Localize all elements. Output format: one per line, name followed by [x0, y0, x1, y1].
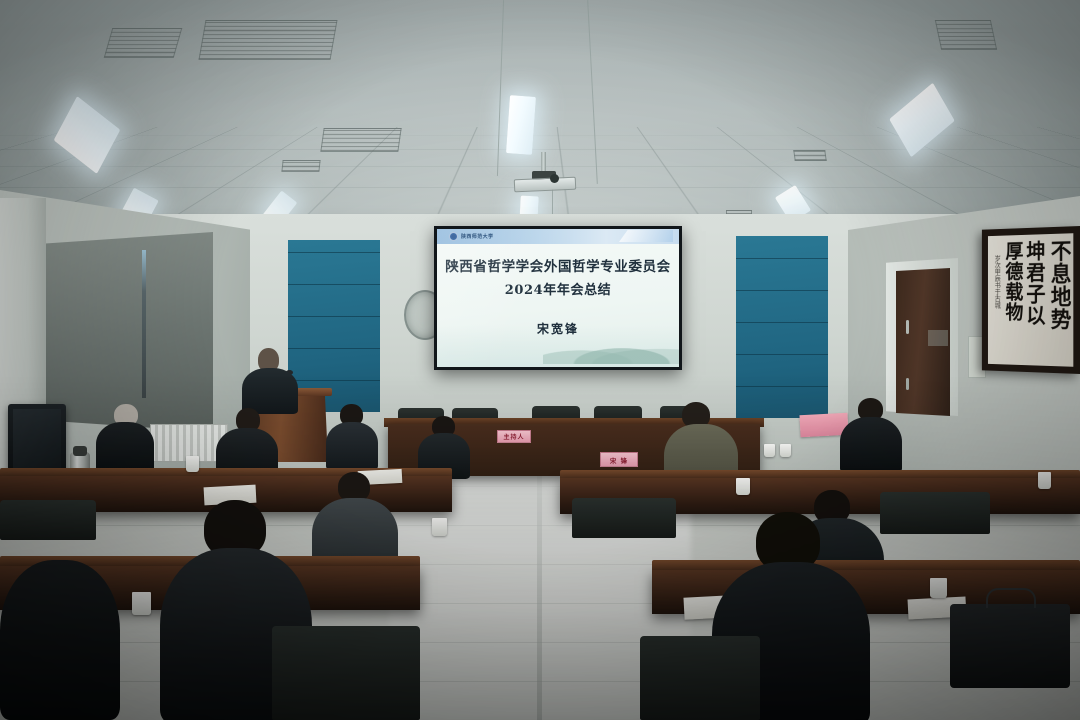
- audience-chair: [572, 498, 676, 538]
- audience-chair: [880, 492, 990, 534]
- paper-cup: [186, 456, 199, 472]
- monitor-screen: [13, 409, 61, 471]
- hvac-vent: [793, 150, 827, 161]
- thermos-cap: [73, 446, 87, 456]
- paper-cup: [764, 444, 775, 457]
- paper-cup: [736, 478, 750, 495]
- audience-torso: [326, 422, 378, 470]
- door-handle-icon[interactable]: [906, 320, 909, 334]
- calligraphy-artwork: 不息地势 坤君子以 厚德载物 岁次甲辰书于古城: [982, 226, 1080, 374]
- slide-author-name: 宋宽锋: [437, 320, 679, 337]
- university-emblem-logo: [449, 232, 458, 241]
- acoustic-wall-panel-right: [736, 236, 828, 418]
- paper-cup: [132, 592, 151, 615]
- slide-content: 陕西省哲学学会外国哲学专业委员会 2024年年会总结 宋宽锋: [437, 255, 679, 337]
- audience-chair: [0, 500, 96, 540]
- projection-screen-housing: 陕西师范大学 陕西省哲学学会外国哲学专业委员会 2024年年会总结 宋宽锋: [434, 226, 682, 370]
- paper-cup: [432, 518, 447, 536]
- slide-title-line-1: 陕西省哲学学会外国哲学专业委员会: [437, 255, 679, 275]
- audience-chair: [640, 636, 760, 720]
- acoustic-wall-panel-left: [288, 240, 380, 412]
- audience-member-foreground: [0, 560, 120, 720]
- hvac-vent: [104, 28, 183, 58]
- slide-header-bar: 陕西师范大学: [437, 229, 679, 244]
- audience-member: [840, 398, 902, 470]
- speaker-at-podium: [240, 348, 300, 408]
- audience-member: [418, 416, 470, 474]
- audience-torso: [96, 422, 154, 472]
- projector-body: [514, 177, 577, 193]
- shoulder-bag: [950, 604, 1070, 688]
- name-card-text: 主持人: [503, 432, 524, 441]
- hvac-vent: [198, 20, 337, 60]
- hvac-vent: [320, 128, 401, 152]
- calligraphy-paper: 不息地势 坤君子以 厚德载物 岁次甲辰书于古城: [988, 233, 1073, 367]
- paper-cup: [930, 578, 947, 598]
- calligraphy-column-3: 厚德载物: [1003, 241, 1022, 323]
- projector-lens: [550, 174, 559, 183]
- alcove-pole: [142, 250, 146, 398]
- audience-torso: [0, 560, 120, 720]
- name-card: 主持人: [497, 430, 531, 443]
- hvac-vent: [281, 160, 320, 172]
- paper-cup: [1038, 472, 1051, 489]
- bag-handle: [986, 588, 1036, 608]
- calligraphy-column-2: 坤君子以: [1025, 240, 1045, 326]
- calligraphy-signature: 岁次甲辰书于古城: [994, 255, 1000, 309]
- name-card: 宋 锋: [600, 452, 638, 467]
- wall-recess-alcove: [38, 232, 213, 432]
- door-lower-handle-icon[interactable]: [906, 378, 909, 390]
- audience-torso: [840, 417, 902, 473]
- slide-title-line-2: 2024年年会总结: [437, 279, 679, 298]
- ceiling-projector: [510, 152, 580, 192]
- audience-chair: [272, 626, 420, 720]
- audience-member: [326, 404, 378, 466]
- slide-university-name: 陕西师范大学: [461, 233, 493, 240]
- audience-member: [96, 404, 154, 468]
- name-card-text: 宋 锋: [610, 455, 628, 465]
- conference-room-photo: 院 ity 不息地势 坤君子以 厚德载物 岁次甲辰书于古城 陕西师范大学 陕西省…: [0, 0, 1080, 720]
- hvac-vent: [935, 20, 997, 50]
- projection-screen: 陕西师范大学 陕西省哲学学会外国哲学专业委员会 2024年年会总结 宋宽锋: [437, 229, 679, 367]
- door-window-panel: [928, 330, 948, 346]
- calligraphy-column-1: 不息地势: [1048, 239, 1070, 331]
- slide-header-decoration: [619, 230, 673, 242]
- ceiling-light-panel: [506, 95, 536, 155]
- paper-cup: [780, 444, 791, 457]
